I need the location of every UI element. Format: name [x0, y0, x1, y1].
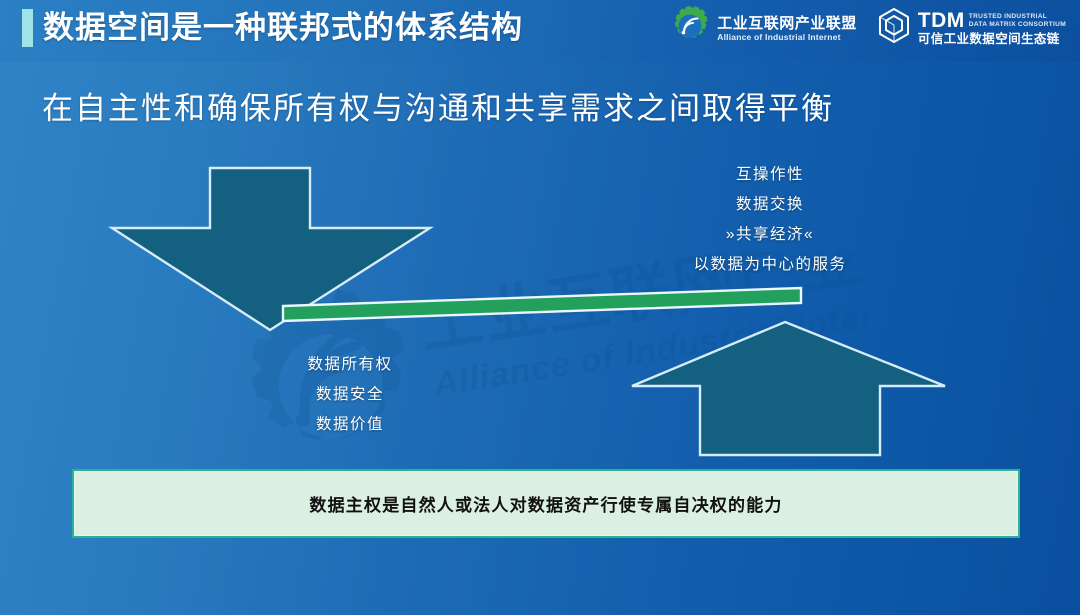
logo-aii-cn: 工业互联网产业联盟 — [717, 15, 857, 32]
left-label-2: 数据价值 — [248, 410, 452, 440]
up-arrow — [632, 322, 945, 455]
logo-tdm-cn: 可信工业数据空间生态链 — [918, 32, 1066, 47]
page-title: 数据空间是一种联邦式的体系结构 — [43, 8, 523, 48]
slide-root: 工业互联网产业联盟 Alliance of Industrial Interne… — [0, 0, 1080, 615]
slide-subtitle: 在自主性和确保所有权与沟通和共享需求之间取得平衡 — [42, 88, 834, 130]
svg-text:Alliance of Industrial Interne: Alliance of Industrial Internet — [430, 288, 868, 404]
right-label-3: 以数据为中心的服务 — [648, 250, 892, 280]
title-accent-bar — [22, 9, 33, 47]
bottom-banner-text: 数据主权是自然人或法人对数据资产行使专属自决权的能力 — [309, 491, 782, 516]
logo-tdm-text: TDM TRUSTED INDUSTRIAL DATA MATRIX CONSO… — [918, 10, 1066, 47]
logo-aii-en: Alliance of Industrial Internet — [717, 32, 857, 43]
right-label-0: 互操作性 — [648, 160, 892, 190]
left-label-1: 数据安全 — [248, 380, 452, 410]
hexagon-cube-icon — [875, 6, 913, 51]
slide-title-row: 数据空间是一种联邦式的体系结构 — [22, 8, 523, 48]
left-label-0: 数据所有权 — [248, 350, 452, 380]
left-label-group: 数据所有权 数据安全 数据价值 — [248, 350, 452, 440]
logo-tdm: TDM TRUSTED INDUSTRIAL DATA MATRIX CONSO… — [875, 6, 1066, 51]
logo-tdm-en-line2: DATA MATRIX CONSORTIUM — [969, 21, 1066, 29]
logo-tdm-en-line1: TRUSTED INDUSTRIAL — [969, 13, 1066, 21]
logo-aii: 工业互联网产业联盟 Alliance of Industrial Interne… — [670, 6, 857, 51]
right-label-2: »共享经济« — [648, 220, 892, 250]
logo-tdm-letters: TDM — [918, 10, 965, 31]
right-label-group: 互操作性 数据交换 »共享经济« 以数据为中心的服务 — [648, 160, 892, 280]
logo-group: 工业互联网产业联盟 Alliance of Industrial Interne… — [670, 6, 1066, 51]
balance-beam — [283, 288, 801, 321]
bottom-banner: 数据主权是自然人或法人对数据资产行使专属自决权的能力 — [72, 469, 1020, 538]
down-arrow — [112, 168, 430, 330]
right-label-1: 数据交换 — [648, 190, 892, 220]
logo-aii-text: 工业互联网产业联盟 Alliance of Industrial Interne… — [717, 15, 857, 43]
gear-wifi-icon — [670, 6, 710, 51]
